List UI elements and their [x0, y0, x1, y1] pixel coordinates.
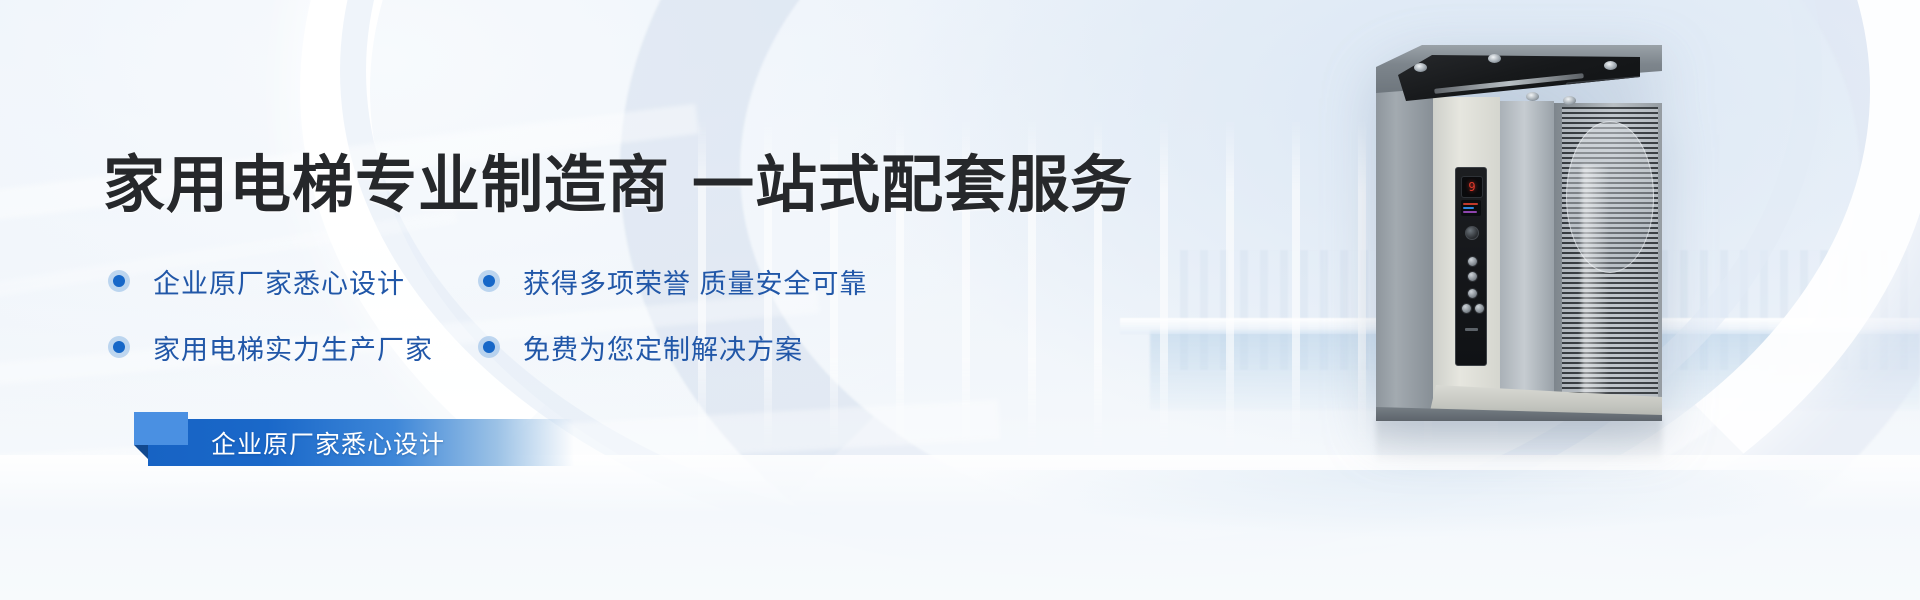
- feature-list: 企业原厂家悉心设计 获得多项荣誉 质量安全可靠 家用电梯实力生产厂家 免费为您定…: [108, 248, 1008, 380]
- elevator-ceiling-light-strip: [1434, 73, 1584, 94]
- feature-row: 企业原厂家悉心设计 获得多项荣誉 质量安全可靠: [108, 248, 1008, 314]
- promo-banner: 9 家用电梯专业制造商一站式配套服务 企业原厂家悉心设计: [0, 0, 1920, 600]
- elevator-floor-button[interactable]: [1467, 271, 1478, 282]
- headline-part-1: 家用电梯专业制造商: [103, 151, 670, 220]
- elevator-cabin-image: 9: [1376, 45, 1662, 420]
- ribbon-bar: 企业原厂家悉心设计: [148, 419, 574, 466]
- elevator-ceiling: [1398, 55, 1640, 101]
- ribbon-fold-icon: [134, 445, 148, 459]
- elevator-emergency-button[interactable]: [1465, 226, 1479, 240]
- elevator-ceiling-spotlight: [1526, 92, 1539, 101]
- elevator-info-screen: [1461, 200, 1481, 216]
- elevator-ceiling-spotlight: [1488, 54, 1501, 63]
- elevator-floor-number: 9: [1468, 181, 1475, 193]
- elevator-oval-mirror: [1566, 121, 1654, 273]
- banner-content: 家用电梯专业制造商一站式配套服务 企业原厂家悉心设计 获得多项荣誉 质量安全可靠…: [0, 0, 1120, 600]
- elevator-door-open-button[interactable]: [1461, 303, 1472, 314]
- elevator-glass-sheen: [1582, 165, 1608, 415]
- feature-item-1: 企业原厂家悉心设计: [108, 248, 478, 314]
- elevator-ceiling-spotlight: [1563, 96, 1576, 105]
- page-title: 家用电梯专业制造商一站式配套服务: [103, 155, 1133, 217]
- elevator-door-close-button[interactable]: [1474, 303, 1485, 314]
- elevator-ceiling-spotlight: [1604, 61, 1617, 70]
- ribbon-corner-tab: [134, 412, 188, 445]
- elevator-floor-display: 9: [1461, 176, 1483, 198]
- elevator-floor-reflection: [1376, 418, 1662, 464]
- elevator-control-panel[interactable]: 9: [1455, 167, 1487, 366]
- elevator-ceiling-panel: [1566, 76, 1646, 99]
- elevator-ceiling-spotlight: [1414, 63, 1427, 72]
- feature-label: 家用电梯实力生产厂家: [153, 328, 433, 367]
- feature-item-4: 免费为您定制解决方案: [478, 314, 878, 380]
- bullet-dot-icon: [478, 270, 500, 292]
- ribbon-label: 企业原厂家悉心设计: [211, 425, 445, 461]
- elevator-wall-left: [1376, 91, 1433, 420]
- bullet-dot-icon: [108, 270, 130, 292]
- feature-label: 免费为您定制解决方案: [523, 328, 803, 367]
- elevator-wall-center-right: [1500, 101, 1554, 420]
- feature-item-2: 获得多项荣誉 质量安全可靠: [478, 248, 878, 314]
- bullet-dot-icon: [108, 336, 130, 358]
- headline-part-2: 一站式配套服务: [692, 151, 1133, 220]
- elevator-floor-button[interactable]: [1467, 256, 1478, 267]
- elevator-brand-logo: [1465, 328, 1478, 331]
- elevator-floor-button[interactable]: [1467, 288, 1478, 299]
- bullet-dot-icon: [478, 336, 500, 358]
- feature-label: 企业原厂家悉心设计: [153, 262, 405, 301]
- feature-label: 获得多项荣誉 质量安全可靠: [523, 262, 868, 301]
- feature-item-3: 家用电梯实力生产厂家: [108, 314, 478, 380]
- feature-row: 家用电梯实力生产厂家 免费为您定制解决方案: [108, 314, 1008, 380]
